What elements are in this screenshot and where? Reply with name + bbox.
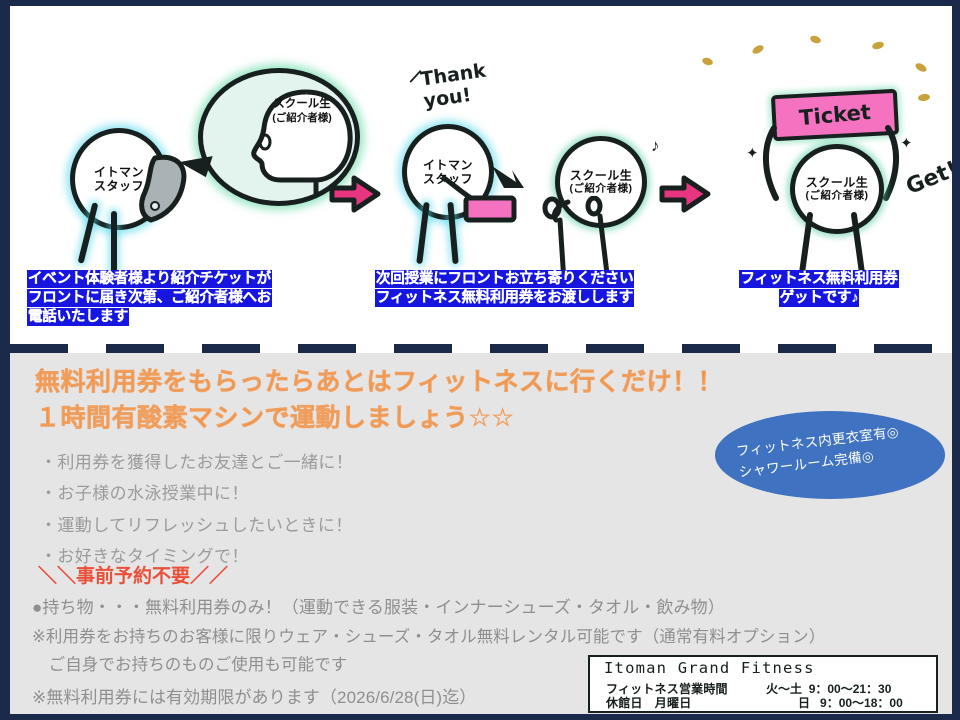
sparkle-icon-2: ✦ [900,134,913,152]
usage-bullet-list: ・利用券を獲得したお友達とご一緒に！ ・お子様の水泳授業中に！ ・運動してリフレ… [40,447,353,572]
confetti-6 [701,56,714,66]
arrow-small-icon [490,162,530,196]
bubble-label-line2: (ご紹介者様) [272,112,332,124]
bubble-label: スクール生 (ご紹介者様) [256,98,348,126]
amenities-callout: フィットネス内更衣室有◎ シャワールーム完備◎ [715,411,945,499]
lower-section: 無料利用券をもらったらあとはフィットネスに行くだけ！！ １時間有酸素マシンで運動… [10,353,952,714]
no-reservation-banner: ＼＼事前予約不要／／ [38,561,228,588]
hours-row2-time: 9：00～18：00 [820,696,903,710]
arrow-right-icon-1 [328,172,384,216]
figure-label: スクール生 (ご紹介者様) [560,169,642,196]
shop-info-box: Itoman Grand Fitness フィットネス営業時間 休館日 月曜日 … [588,655,938,713]
headline-line1: 無料利用券をもらったらあとはフィットネスに行くだけ！！ [35,368,723,396]
figure-label-line2: (ご紹介者様) [560,183,642,195]
music-note-icon: ♪ [651,136,660,156]
caption-line: フィットネス無料利用券をお渡しします [376,290,633,306]
list-item: ・お子様の水泳授業中に！ [40,478,353,509]
caption-line: 次回授業にフロントお立ち寄りください [376,271,633,287]
caption-line: ゲットです♪ [780,290,859,306]
headline-line2: １時間有酸素マシンで運動しましょう☆☆ [35,404,514,432]
figure-label-line1: スクール生 [806,176,869,190]
dashed-divider [10,344,952,353]
amenities-text: フィットネス内更衣室有◎ シャワールーム完備◎ [735,418,935,483]
thank-you-text: Thank you! [419,60,490,113]
list-item: ・利用券を獲得したお友達とご一緒に！ [40,447,353,478]
caption-line: 電話いたします [28,309,128,325]
hours-row1-days: 火～土 [766,682,802,696]
caption-line: フィットネス無料利用券 [740,271,897,287]
figure-label-line1: スクール生 [570,169,633,183]
confetti-4 [914,61,928,73]
figure-label-line2: (ご紹介者様) [795,190,879,202]
headline: 無料利用券をもらったらあとはフィットネスに行くだけ！！ １時間有酸素マシンで運動… [35,365,735,436]
figure-label-line1: イトマン [423,158,473,172]
arrow-right-icon-2 [658,172,714,216]
caption-step-2: 次回授業にフロントお立ち寄りください フィットネス無料利用券をお渡しします [376,270,633,308]
confetti-2 [809,34,822,44]
note-line-rental-cont: ご自身でお持ちのものご使用も可能です [32,651,347,675]
confetti-1 [751,43,765,55]
comic-illustration: イトマン スタッフ スクール生 [10,6,952,338]
caption-line: イベント体験者様より紹介チケットが [28,271,271,287]
shop-name: Itoman Grand Fitness [604,659,815,677]
poster-root: イトマン スタッフ スクール生 [0,0,960,720]
note-line-bring: ●持ち物・・・無料利用券のみ！（運動できる服装・インナーシューズ・タオル・飲み物… [32,593,725,618]
amenities-line1: フィットネス内更衣室有◎ [735,424,899,459]
figure-label: スクール生 (ご紹介者様) [795,176,879,203]
closed-label: 休館日 月曜日 [606,694,691,711]
figure-leg-left [416,202,430,264]
bubble-label-line1: スクール生 [273,98,331,110]
caption-step-1: イベント体験者様より紹介チケットが フロントに届き次第、ご紹介者様へお 電話いた… [28,270,271,327]
hours-row2: 日 9：00～18：00 [798,694,903,711]
confetti-3 [871,41,884,51]
note-line-expiry: ※無料利用券には有効期限があります（2026/6/28(日)迄） [32,683,476,708]
note-line-rental: ※利用券をお持ちのお客様に限りウェア・シューズ・タオル無料レンタル可能です（通常… [32,623,825,647]
poster-inner: イトマン スタッフ スクール生 [10,6,952,714]
sparkle-icon-1: ✦ [746,144,759,162]
caption-step-3: フィットネス無料利用券 ゲットです♪ [734,270,904,308]
hours-row2-days: 日 [798,696,810,710]
caption-line: フロントに届き次第、ご紹介者様へお [28,290,271,306]
confetti-5 [918,93,931,102]
list-item: ・運動してリフレッシュしたいときに！ [40,510,353,541]
